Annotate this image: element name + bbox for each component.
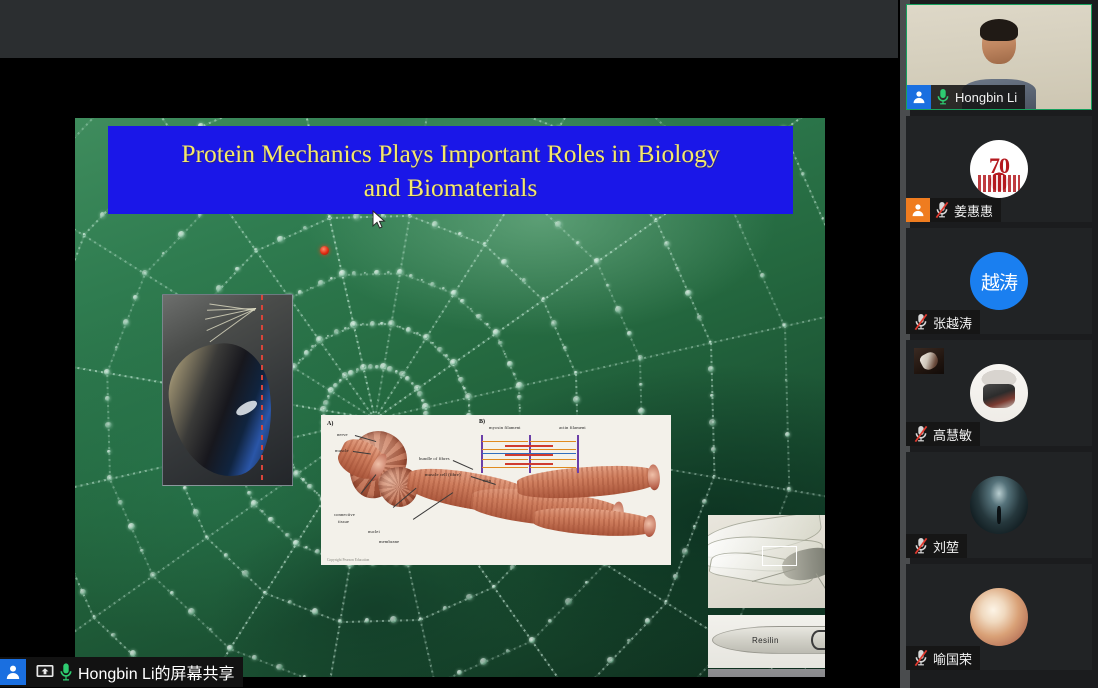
avatar-building-graphic — [978, 175, 1020, 192]
microphone-muted-icon — [914, 649, 928, 667]
participant-name: Hongbin Li — [955, 90, 1017, 105]
resilin-tendon-micrograph: Resilin Tendon — [708, 615, 825, 668]
person-icon — [0, 659, 26, 685]
participant-name: 刘堃 — [933, 537, 959, 556]
avatar — [970, 588, 1028, 646]
participant-name-bar: Hongbin Li — [907, 85, 1025, 109]
person-icon — [906, 198, 930, 222]
participant-name-bar: 刘堃 — [906, 534, 967, 558]
region-of-interest-box — [762, 546, 797, 566]
video-person-hair — [980, 19, 1018, 41]
avatar-sketch-figure — [983, 384, 1015, 408]
microphone-muted-icon — [935, 201, 949, 219]
participant-tile-hongbin-li[interactable]: Hongbin Li — [906, 4, 1092, 110]
participant-name: 高慧敏 — [933, 425, 972, 444]
figure-credit: Copyright Pearson Education — [327, 558, 369, 562]
microphone-unmuted-icon — [936, 88, 950, 106]
participant-tile-yu-guorong[interactable]: 喻国荣 — [906, 564, 1092, 670]
dragonfly-wing-hinge-photo — [708, 515, 825, 608]
stage-top-letterbox — [0, 0, 898, 58]
participant-name-bar: 喻国荣 — [906, 646, 980, 670]
resilin-fluorescence-micrograph: 0.1 mm — [708, 669, 825, 677]
label-myosin-filament: myosin filament — [489, 425, 520, 430]
muscle-panel-a-label: A) — [327, 421, 333, 427]
muscle-panel-b-label: B) — [479, 419, 485, 425]
picture-in-picture-thumbnail — [914, 348, 944, 374]
tendon-hook — [811, 630, 825, 650]
label-nerve: nerve — [337, 432, 348, 437]
screen-share-status-bar: Hongbin Li的屏幕共享 — [0, 657, 243, 687]
avatar — [970, 476, 1028, 534]
slide-title-banner: Protein Mechanics Plays Important Roles … — [108, 126, 793, 214]
label-resilin: Resilin — [752, 636, 779, 645]
label-connective-tissue-2: tissue — [338, 519, 349, 524]
presentation-slide: Protein Mechanics Plays Important Roles … — [75, 118, 825, 677]
avatar — [970, 364, 1028, 422]
label-bundle-of-fibres: bundle of fibres — [419, 456, 450, 461]
label-muscle: muscle — [335, 448, 349, 453]
mussel-byssal-threads-photo — [162, 294, 293, 486]
microphone-muted-icon — [914, 313, 928, 331]
person-icon — [907, 85, 931, 109]
avatar: 70 — [970, 140, 1028, 198]
slide-title-line-2: and Biomaterials — [364, 171, 538, 205]
slide-title-line-1: Protein Mechanics Plays Important Roles … — [181, 137, 719, 171]
participant-filmstrip[interactable]: Hongbin Li 70 姜惠 — [900, 0, 1098, 688]
zoom-meeting-window: Protein Mechanics Plays Important Roles … — [0, 0, 1098, 688]
participant-name-bar: 高慧敏 — [906, 422, 980, 446]
screen-share-icon — [35, 662, 55, 682]
participant-tile-zhang-yuetao[interactable]: 越涛 高慧敏 张越涛 — [906, 228, 1092, 334]
label-nuclei: nuclei — [368, 529, 380, 534]
label-muscle-cell-fibre: muscle cell (fibre) — [425, 472, 461, 477]
label-connective-tissue: connective — [334, 512, 355, 517]
muscle-bundle-5 — [532, 505, 654, 539]
avatar: 越涛 — [970, 252, 1028, 310]
participant-tile-jiang-huihui[interactable]: 70 姜惠惠 — [906, 116, 1092, 222]
muscle-anatomy-figure: A) B) — [321, 415, 671, 565]
participant-tile-liu-kun[interactable]: 刘堃 — [906, 452, 1092, 558]
participant-tile-gao-huimin[interactable]: 高慧敏 — [906, 340, 1092, 446]
sarcomere-diagram — [477, 433, 595, 475]
label-actin-filament: actin filament — [559, 425, 586, 430]
label-membrane: membrane — [379, 539, 399, 544]
microphone-unmuted-icon — [59, 662, 73, 682]
participant-name: 喻国荣 — [933, 649, 972, 668]
mouse-cursor-icon — [372, 210, 386, 230]
participant-name: 姜惠惠 — [954, 201, 993, 220]
participant-name-bar: 姜惠惠 — [906, 198, 1001, 222]
laser-pointer-dot — [320, 246, 329, 255]
microphone-muted-icon — [914, 425, 928, 443]
participant-name: 张越涛 — [933, 313, 972, 332]
screen-share-stage[interactable]: Protein Mechanics Plays Important Roles … — [0, 58, 898, 655]
participant-name-bar: 高慧敏 张越涛 — [906, 310, 980, 334]
microphone-muted-icon — [914, 537, 928, 555]
share-status-text: Hongbin Li的屏幕共享 — [78, 660, 235, 684]
